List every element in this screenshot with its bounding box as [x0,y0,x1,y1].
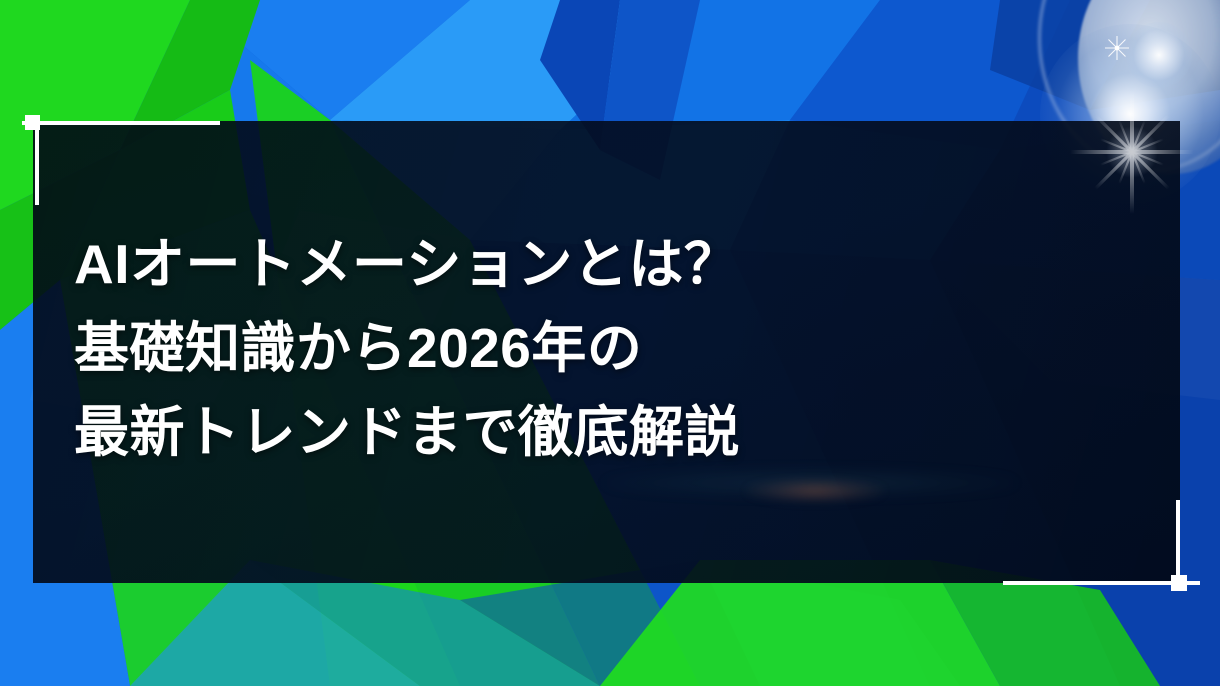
bracket-right-vertical-line [1176,500,1180,585]
page-title: AIオートメーションとは？ 基礎知識から2026年の 最新トレンドまで徹底解説 [74,222,1114,474]
bracket-corner-node [25,115,40,130]
title-line-1: AIオートメーションとは？ [74,222,1114,306]
title-line-2: 基礎知識から2026年の [74,306,1114,390]
bracket-top-horizontal-line [22,121,220,125]
warm-light-smudge [745,480,885,502]
bracket-corner-node [1171,575,1187,591]
title-line-3: 最新トレンドまで徹底解説 [74,390,1114,474]
eyecatch-card: AIオートメーションとは？ 基礎知識から2026年の 最新トレンドまで徹底解説 [0,0,1220,686]
eight-point-starburst-icon [1068,88,1196,216]
bracket-left-vertical-line [35,121,39,205]
